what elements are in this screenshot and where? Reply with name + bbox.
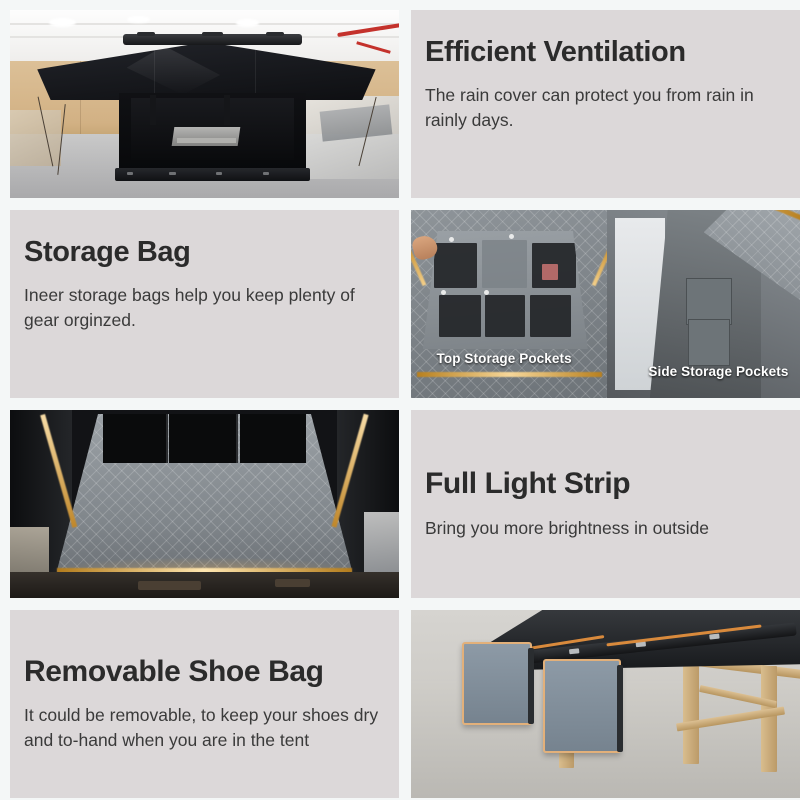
base-latch	[569, 649, 579, 655]
feature-image-efficient-ventilation	[10, 10, 399, 198]
feature-description: Bring you more brightness in outside	[425, 516, 785, 541]
base-latch	[127, 172, 133, 175]
ceiling-pocket-panel	[423, 231, 588, 349]
side-storage-pockets-photo: Side Storage Pockets	[607, 210, 800, 398]
rail-knob	[137, 32, 155, 36]
feature-text-storage-bag: Storage Bag Ineer storage bags help you …	[10, 210, 399, 398]
tent-strap	[150, 95, 156, 125]
stored-item	[542, 264, 559, 281]
background-clutter	[10, 110, 61, 166]
feature-title: Full Light Strip	[425, 467, 786, 502]
base-latch	[708, 634, 718, 640]
roof-window	[169, 414, 235, 463]
canopy-fold	[154, 46, 155, 95]
rail-knob	[266, 32, 284, 36]
ceiling-lamp	[49, 18, 76, 27]
storage-pockets-photo: Top Storage Pockets Side Storage Pockets	[411, 210, 800, 398]
canopy-fold	[255, 46, 256, 95]
base-latch	[263, 172, 269, 175]
roof-window	[240, 414, 306, 463]
shoe-bag	[543, 659, 621, 753]
top-storage-pockets-photo: Top Storage Pockets	[411, 210, 607, 398]
feature-description: Ineer storage bags help you keep plenty …	[24, 283, 384, 333]
feature-image-full-light-strip	[10, 410, 399, 598]
ladder-rung	[177, 138, 235, 144]
ceiling-lamp	[127, 16, 150, 24]
feature-text-removable-shoe-bag: Removable Shoe Bag It could be removable…	[10, 610, 399, 798]
rail-knob	[202, 32, 223, 36]
shoe-bag-edge	[617, 665, 623, 752]
storage-pocket	[686, 278, 733, 325]
feature-title: Storage Bag	[24, 236, 385, 269]
base-latch	[169, 172, 175, 175]
rooftop-tent-photo	[10, 10, 399, 198]
feature-text-full-light-strip: Full Light Strip Bring you more brightne…	[411, 410, 800, 598]
feature-grid: Efficient Ventilation The rain cover can…	[10, 10, 800, 774]
storage-pocket	[530, 295, 571, 338]
feature-image-storage-bag: Top Storage Pockets Side Storage Pockets	[411, 210, 800, 398]
base-latch	[216, 172, 222, 175]
floor-item	[138, 581, 200, 590]
feature-description: The rain cover can protect you from rain…	[425, 83, 785, 133]
storage-pocket	[439, 295, 480, 338]
sawhorse-leg	[761, 666, 777, 771]
feature-image-removable-shoe-bag	[411, 610, 800, 798]
tent-interior-photo	[10, 410, 399, 598]
tent-floor	[10, 572, 399, 598]
product-feature-sheet: Efficient Ventilation The rain cover can…	[0, 0, 800, 800]
overlay-label-top-storage-pockets: Top Storage Pockets	[437, 351, 572, 366]
storage-pocket	[688, 319, 730, 366]
feature-title: Efficient Ventilation	[425, 36, 786, 69]
feature-text-efficient-ventilation: Efficient Ventilation The rain cover can…	[411, 10, 800, 198]
feature-title: Removable Shoe Bag	[24, 655, 385, 690]
pocket-stud	[484, 290, 489, 295]
sawhorse-leg	[683, 666, 699, 764]
storage-pocket	[482, 240, 527, 287]
pocket-stud	[441, 290, 446, 295]
overlay-label-side-storage-pockets: Side Storage Pockets	[648, 364, 788, 379]
feature-description: It could be removable, to keep your shoe…	[24, 703, 384, 753]
window-frame	[236, 414, 238, 463]
storage-pocket	[485, 295, 525, 338]
pocket-stud	[449, 237, 454, 242]
window-frame	[166, 414, 168, 463]
led-strip	[417, 372, 602, 377]
shoe-bag-edge	[528, 648, 534, 724]
shoe-bag-photo	[411, 610, 800, 798]
tent-roof-rail	[123, 34, 302, 44]
shoe-bag	[462, 642, 532, 725]
storage-pocket	[434, 243, 477, 288]
pocket-stud	[509, 234, 514, 239]
ceiling-lamp	[236, 19, 259, 27]
tent-strap	[224, 95, 230, 125]
roof-window	[103, 414, 165, 463]
tent-base	[115, 168, 310, 181]
floor-item	[275, 579, 310, 587]
